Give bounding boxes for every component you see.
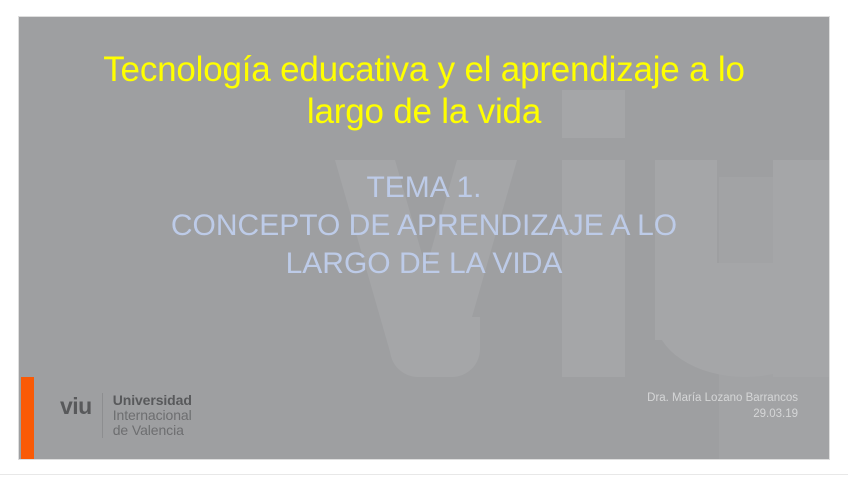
author-block: Dra. María Lozano Barrancos 29.03.19 xyxy=(647,390,798,422)
presentation-slide: Tecnología educativa y el aprendizaje a … xyxy=(19,17,829,459)
author-date: 29.03.19 xyxy=(647,406,798,422)
slide-subtitle: TEMA 1. CONCEPTO DE APRENDIZAJE A LO LAR… xyxy=(79,169,769,283)
orange-accent-bar xyxy=(21,377,34,459)
logo-divider xyxy=(102,393,103,438)
logo-line-de-valencia: de Valencia xyxy=(113,423,192,438)
slide-title: Tecnología educativa y el aprendizaje a … xyxy=(79,49,769,133)
author-name: Dra. María Lozano Barrancos xyxy=(647,390,798,406)
watermark-letter-v-bowl xyxy=(390,317,480,377)
logo-line-internacional: Internacional xyxy=(113,408,192,423)
logo-name-lines: Universidad Internacional de Valencia xyxy=(113,393,192,438)
viu-logo: viu Universidad Internacional de Valenci… xyxy=(60,393,192,438)
page-viewport: Tecnología educativa y el aprendizaje a … xyxy=(0,0,848,477)
page-bottom-rule xyxy=(0,474,848,475)
logo-line-universidad: Universidad xyxy=(113,393,192,408)
viu-logo-wordmark: viu xyxy=(60,393,102,418)
watermark-letter-u-right-stem xyxy=(773,160,829,377)
